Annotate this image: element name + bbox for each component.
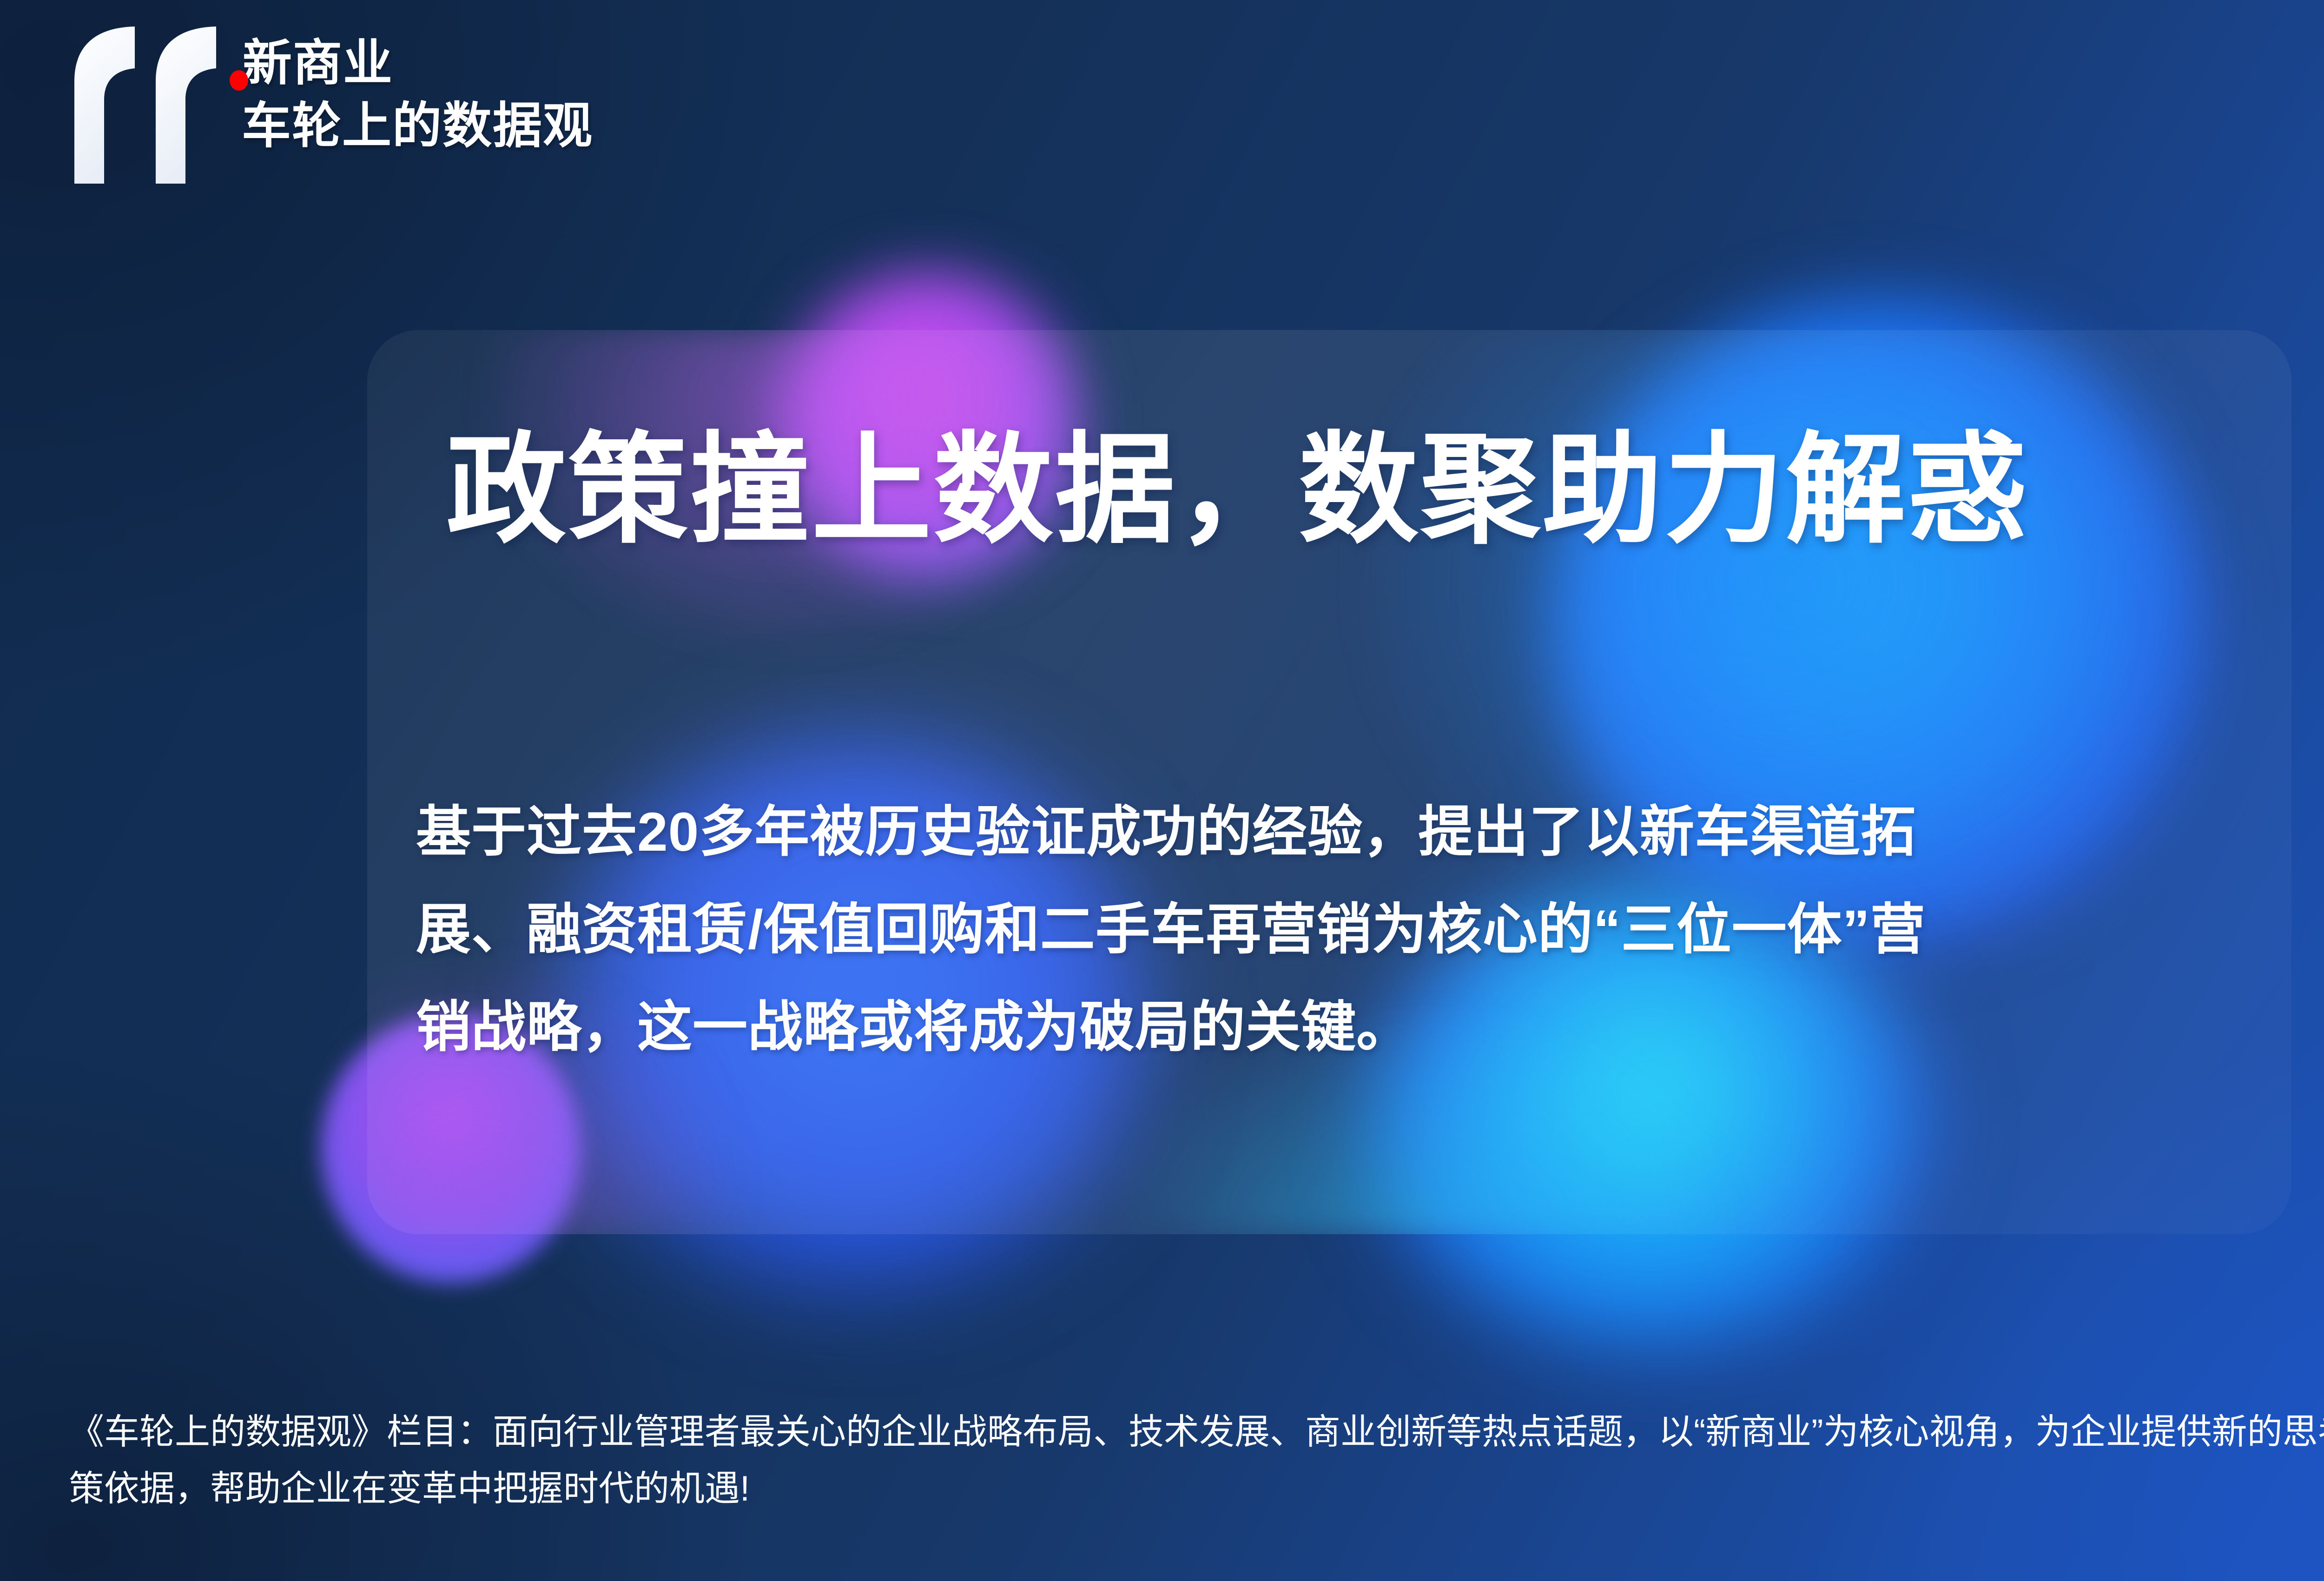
body-paragraph: 基于过去20多年被历史验证成功的经验，提出了以新车渠道拓 展、融资租赁/保值回购… [416, 783, 2238, 1076]
footer-line-2: 策依据，帮助企业在变革中把握时代的机遇! [69, 1461, 2324, 1517]
body-line-1: 基于过去20多年被历史验证成功的经验，提出了以新车渠道拓 [416, 783, 2238, 881]
brand-logo: 新商业 车轮上的数据观 [70, 26, 593, 184]
brand-title-primary: 新商业 [242, 36, 593, 91]
footer-line-1: 《车轮上的数据观》栏目：面向行业管理者最关心的企业战略布局、技术发展、商业创新等… [69, 1404, 2324, 1461]
brand-red-dot-icon [230, 70, 248, 91]
body-line-2: 展、融资租赁/保值回购和二手车再营销为核心的“三位一体”营 [416, 881, 2238, 979]
page-title: 政策撞上数据，数聚助力解惑 [446, 423, 2029, 557]
content-card: 政策撞上数据，数聚助力解惑 基于过去20多年被历史验证成功的经验，提出了以新车渠… [367, 330, 2291, 1234]
brand-text-block: 新商业 车轮上的数据观 [242, 26, 593, 153]
footer-description: 《车轮上的数据观》栏目：面向行业管理者最关心的企业战略布局、技术发展、商业创新等… [69, 1404, 2324, 1517]
left-double-quote-icon [70, 26, 223, 184]
body-line-3: 销战略，这一战略或将成为破局的关键。 [416, 979, 2238, 1076]
brand-title-secondary: 车轮上的数据观 [242, 99, 593, 154]
brand-title-primary-label: 新商业 [243, 36, 393, 91]
